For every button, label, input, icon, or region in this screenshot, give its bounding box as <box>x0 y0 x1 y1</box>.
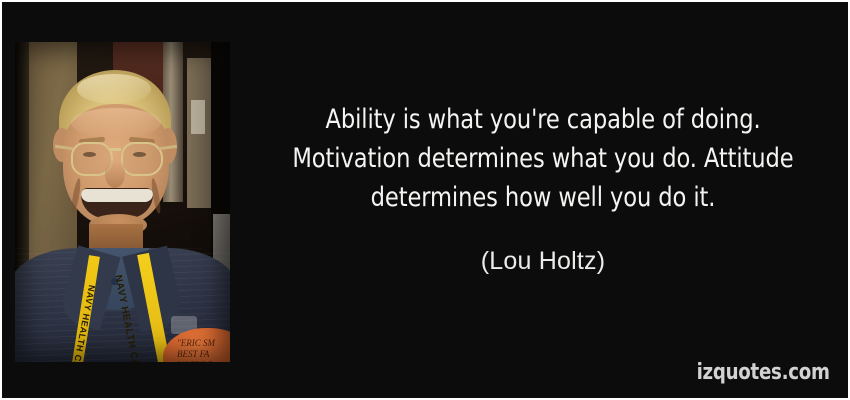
portrait-photo: NAVY HEALTH CARE NAVY HEALTH CARE "ERIC … <box>15 42 230 362</box>
watermark-izquotes: izquotes.com <box>697 360 830 385</box>
quote-author: (Lou Holtz) <box>248 247 838 276</box>
quote-text: Ability is what you're capable of doing.… <box>269 100 818 217</box>
quote-text-block: Ability is what you're capable of doing.… <box>248 100 838 217</box>
photo-vignette <box>15 42 230 362</box>
quote-card: NAVY HEALTH CARE NAVY HEALTH CARE "ERIC … <box>0 0 850 400</box>
